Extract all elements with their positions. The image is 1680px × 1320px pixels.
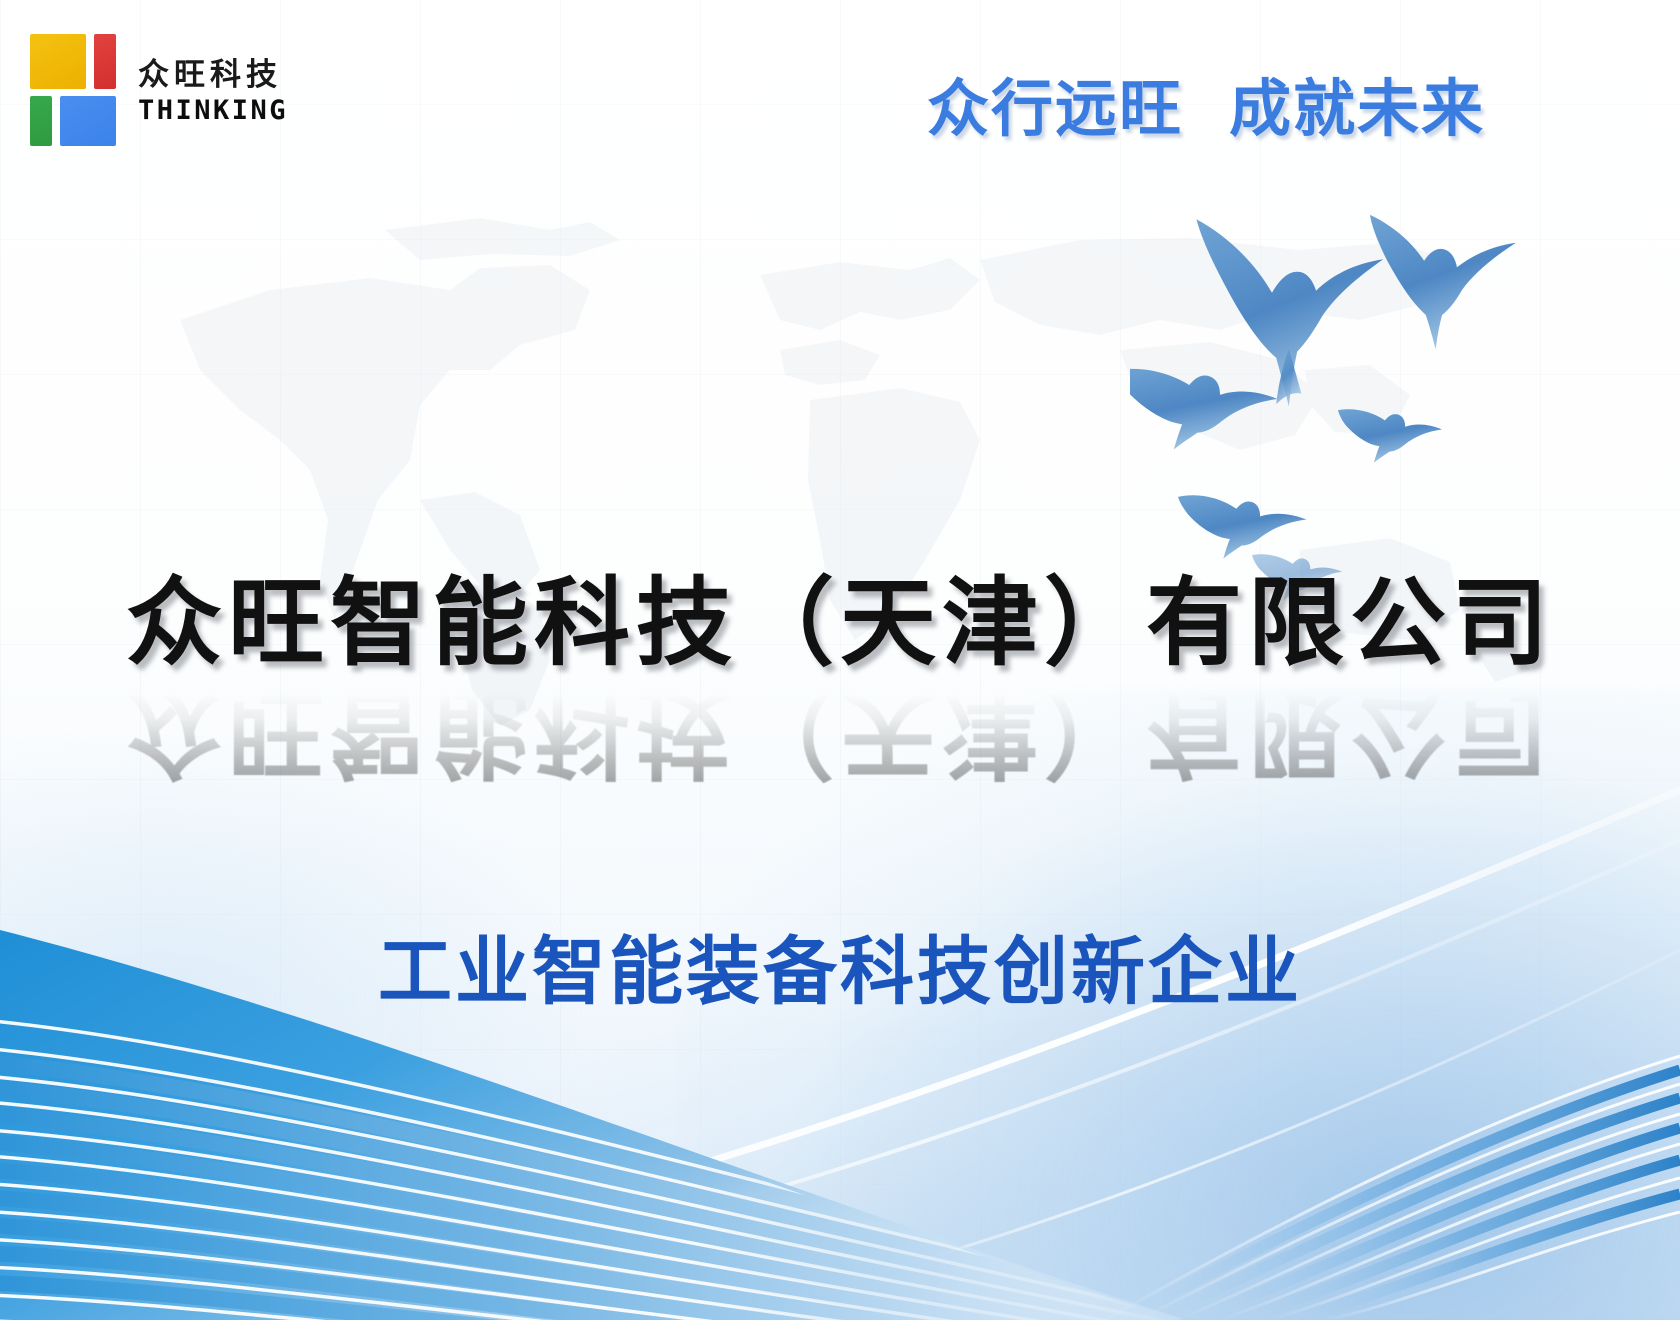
header-tagline: 众行远旺成就未来 [927, 58, 1485, 148]
page-title: 众旺智能科技（天津）有限公司 [0, 572, 1680, 676]
page-subtitle: 工业智能装备科技创新企业 [0, 912, 1680, 1019]
yellow-block-icon [30, 34, 86, 89]
logo-brand-en: THINKING [138, 97, 288, 124]
page-title-reflection: 众旺智能科技（天津）有限公司 [0, 680, 1680, 784]
presentation-slide: 众旺科技 THINKING 众行远旺成就未来 众旺智能科技（天津）有限公司 众旺… [0, 0, 1680, 1320]
logo-wordmark: 众旺科技 THINKING [138, 56, 288, 124]
seagull-icon [1130, 369, 1277, 450]
seagull-icon [1338, 409, 1442, 462]
blue-block-icon [60, 96, 116, 146]
tagline-right: 成就未来 [1229, 72, 1485, 145]
green-block-icon [30, 96, 52, 146]
red-block-icon [94, 34, 116, 89]
seagull-icon [1178, 495, 1307, 558]
logo-color-blocks [30, 34, 116, 146]
seagull-icon [1196, 219, 1383, 406]
seagull-flock [1130, 195, 1610, 615]
tagline-left: 众行远旺 [927, 72, 1183, 145]
logo-brand-cn: 众旺科技 [138, 60, 288, 91]
blue-wave-fan-right [1060, 990, 1680, 1320]
title-block: 众旺智能科技（天津）有限公司 众旺智能科技（天津）有限公司 [0, 572, 1680, 783]
seagull-icon [1370, 215, 1516, 349]
company-logo[interactable]: 众旺科技 THINKING [30, 34, 288, 146]
